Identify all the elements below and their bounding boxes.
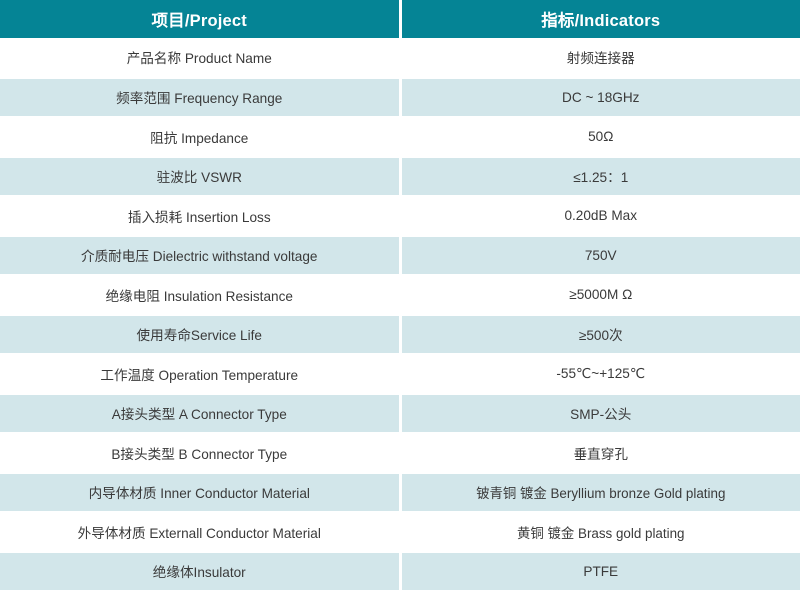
table-row: 绝缘体InsulatorPTFE bbox=[0, 552, 800, 592]
table-row: 介质耐电压 Dielectric withstand voltage750V bbox=[0, 236, 800, 276]
cell-project: 内导体材质 Inner Conductor Material bbox=[0, 473, 400, 513]
cell-project: 工作温度 Operation Temperature bbox=[0, 354, 400, 394]
cell-indicator: 垂直穿孔 bbox=[400, 433, 800, 473]
cell-indicator: ≥5000M Ω bbox=[400, 275, 800, 315]
table-row: 频率范围 Frequency RangeDC ~ 18GHz bbox=[0, 78, 800, 118]
column-header-indicator: 指标/Indicators bbox=[400, 0, 800, 38]
cell-indicator: 750V bbox=[400, 236, 800, 276]
cell-indicator: 50Ω bbox=[400, 117, 800, 157]
table-row: 内导体材质 Inner Conductor Material铍青铜 镀金 Ber… bbox=[0, 473, 800, 513]
cell-indicator: 射频连接器 bbox=[400, 38, 800, 78]
cell-indicator: SMP-公头 bbox=[400, 394, 800, 434]
table-row: 阻抗 Impedance50Ω bbox=[0, 117, 800, 157]
table-row: 使用寿命Service Life≥500次 bbox=[0, 315, 800, 355]
cell-indicator: ≤1.25：1 bbox=[400, 157, 800, 197]
cell-project: 使用寿命Service Life bbox=[0, 315, 400, 355]
table-row: A接头类型 A Connector TypeSMP-公头 bbox=[0, 394, 800, 434]
cell-project: 外导体材质 Externall Conductor Material bbox=[0, 512, 400, 552]
table-row: 插入损耗 Insertion Loss0.20dB Max bbox=[0, 196, 800, 236]
cell-indicator: 铍青铜 镀金 Beryllium bronze Gold plating bbox=[400, 473, 800, 513]
cell-indicator: 黄铜 镀金 Brass gold plating bbox=[400, 512, 800, 552]
table-row: 外导体材质 Externall Conductor Material黄铜 镀金 … bbox=[0, 512, 800, 552]
table-header-row: 项目/Project 指标/Indicators bbox=[0, 0, 800, 38]
cell-indicator: 0.20dB Max bbox=[400, 196, 800, 236]
cell-project: 阻抗 Impedance bbox=[0, 117, 400, 157]
cell-project: 绝缘电阻 Insulation Resistance bbox=[0, 275, 400, 315]
cell-indicator: -55℃~+125℃ bbox=[400, 354, 800, 394]
table-row: B接头类型 B Connector Type垂直穿孔 bbox=[0, 433, 800, 473]
cell-project: 绝缘体Insulator bbox=[0, 552, 400, 592]
cell-indicator: ≥500次 bbox=[400, 315, 800, 355]
cell-project: 介质耐电压 Dielectric withstand voltage bbox=[0, 236, 400, 276]
column-header-project: 项目/Project bbox=[0, 0, 400, 38]
cell-indicator: PTFE bbox=[400, 552, 800, 592]
table-row: 驻波比 VSWR≤1.25：1 bbox=[0, 157, 800, 197]
cell-project: 插入损耗 Insertion Loss bbox=[0, 196, 400, 236]
cell-project: 产品名称 Product Name bbox=[0, 38, 400, 78]
cell-project: 频率范围 Frequency Range bbox=[0, 78, 400, 118]
table-row: 产品名称 Product Name射频连接器 bbox=[0, 38, 800, 78]
table-row: 绝缘电阻 Insulation Resistance≥5000M Ω bbox=[0, 275, 800, 315]
cell-project: 驻波比 VSWR bbox=[0, 157, 400, 197]
cell-project: B接头类型 B Connector Type bbox=[0, 433, 400, 473]
cell-project: A接头类型 A Connector Type bbox=[0, 394, 400, 434]
specification-table: 项目/Project 指标/Indicators 产品名称 Product Na… bbox=[0, 0, 800, 592]
cell-indicator: DC ~ 18GHz bbox=[400, 78, 800, 118]
table-row: 工作温度 Operation Temperature-55℃~+125℃ bbox=[0, 354, 800, 394]
table-body: 产品名称 Product Name射频连接器频率范围 Frequency Ran… bbox=[0, 38, 800, 591]
